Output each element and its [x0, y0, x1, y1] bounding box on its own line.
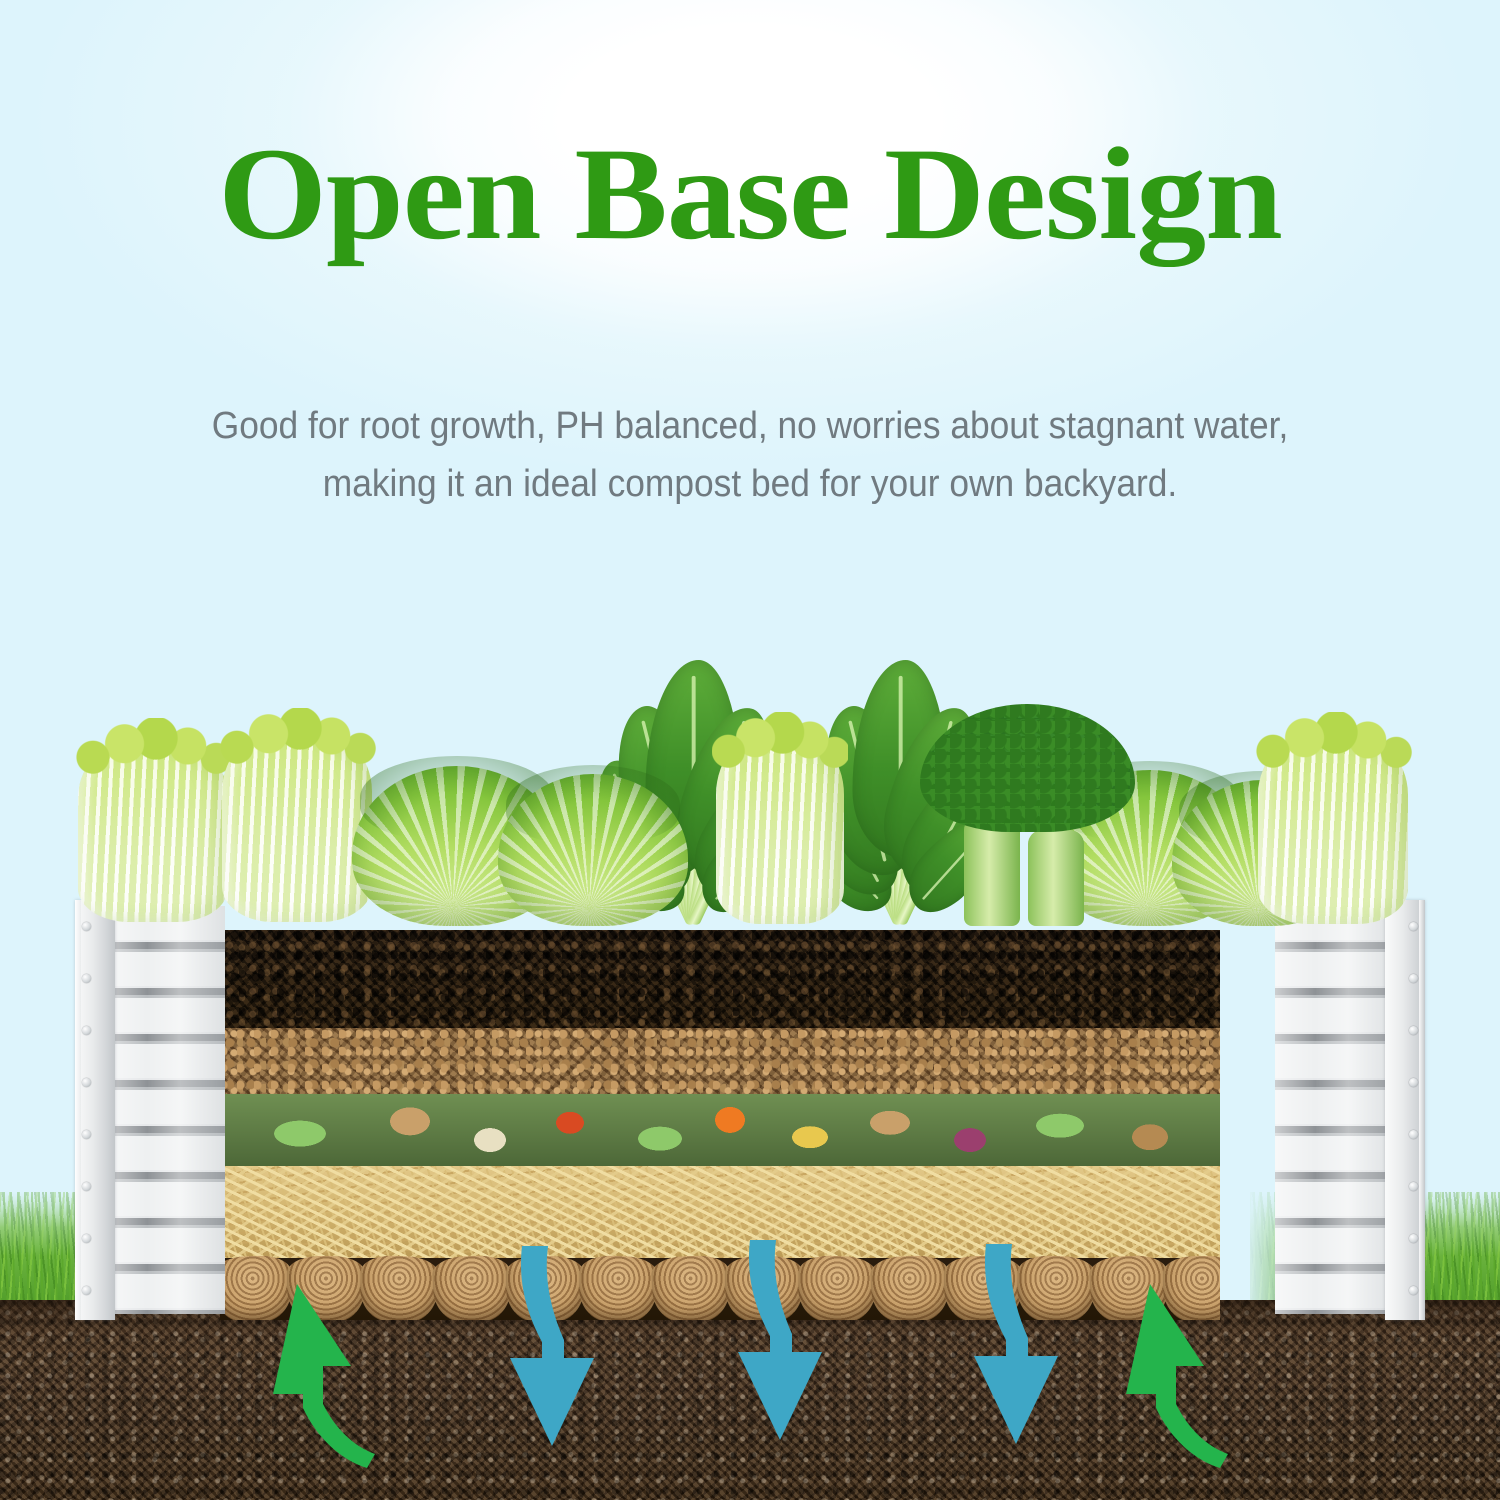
panel-screw [82, 1182, 91, 1191]
drainage-arrow-down [952, 1244, 1082, 1464]
vegetable-row [0, 600, 1500, 940]
arrow-up-glyph [1126, 1284, 1228, 1468]
panel-screw [82, 1130, 91, 1139]
drainage-arrow-down [488, 1246, 618, 1466]
nutrient-arrow-up [1108, 1262, 1238, 1482]
drainage-arrow-down [716, 1240, 846, 1460]
broccoli [920, 704, 1135, 926]
savoy-cabbage [498, 774, 688, 926]
napa-cabbage [78, 734, 228, 922]
arrow-down-glyph [974, 1244, 1058, 1444]
broccoli-stalk [964, 816, 1020, 926]
cabbage-outer-leaf [506, 765, 681, 844]
arrow-up-glyph [273, 1284, 375, 1468]
panel-screw [82, 1026, 91, 1035]
cabbage-ruffle [74, 718, 232, 774]
panel-screw [82, 922, 91, 931]
kitchen-scraps-layer [220, 1094, 1220, 1166]
airflow-arrow-group [0, 1240, 1500, 1500]
cabbage-ruffle [712, 712, 848, 768]
panel-screw [1409, 1182, 1418, 1191]
subtitle-line-1: Good for root growth, PH balanced, no wo… [118, 398, 1383, 456]
napa-cabbage [1258, 728, 1408, 924]
panel-screw [1409, 974, 1418, 983]
broccoli-crown [920, 704, 1135, 832]
panel-screw [82, 974, 91, 983]
arrow-down-glyph [738, 1240, 822, 1440]
napa-cabbage [222, 724, 372, 922]
panel-screw [1409, 922, 1418, 931]
page-subtitle: Good for root growth, PH balanced, no wo… [118, 398, 1383, 514]
page-title: Open Base Design [0, 128, 1500, 260]
panel-screw [1409, 1078, 1418, 1087]
napa-cabbage [716, 728, 844, 924]
broccoli-stalk [1028, 830, 1084, 926]
garden-bed-scene [0, 600, 1500, 1500]
panel-screw [1409, 1026, 1418, 1035]
cabbage-ruffle [1254, 712, 1412, 768]
panel-screw [82, 1078, 91, 1087]
cabbage-ruffle [218, 708, 376, 764]
infographic-canvas: Open Base Design Good for root growth, P… [0, 0, 1500, 1500]
panel-screw [1409, 1130, 1418, 1139]
subtitle-line-2: making it an ideal compost bed for your … [118, 456, 1383, 514]
dark-compost-soil-layer [220, 930, 1220, 1028]
arrow-down-glyph [510, 1246, 594, 1446]
brown-soil-mulch-layer [220, 1028, 1220, 1094]
nutrient-arrow-up [255, 1262, 385, 1482]
